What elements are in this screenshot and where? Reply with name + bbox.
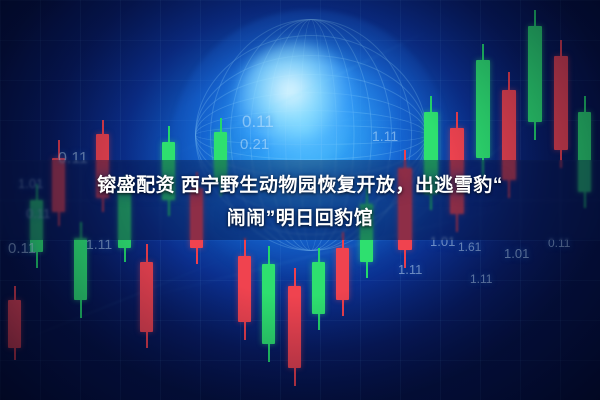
news-banner-image: 0.110.211.110.111.010.111.110.111.011.61… [0,0,600,400]
headline-text: 镕盛配资 西宁野生动物园恢复开放，出逃雪豹“ 闹闹”明日回豹馆 [0,160,600,240]
headline-line-1: 镕盛配资 西宁野生动物园恢复开放，出逃雪豹“ [97,170,503,197]
headline-line-2: 闹闹”明日回豹馆 [227,203,374,230]
